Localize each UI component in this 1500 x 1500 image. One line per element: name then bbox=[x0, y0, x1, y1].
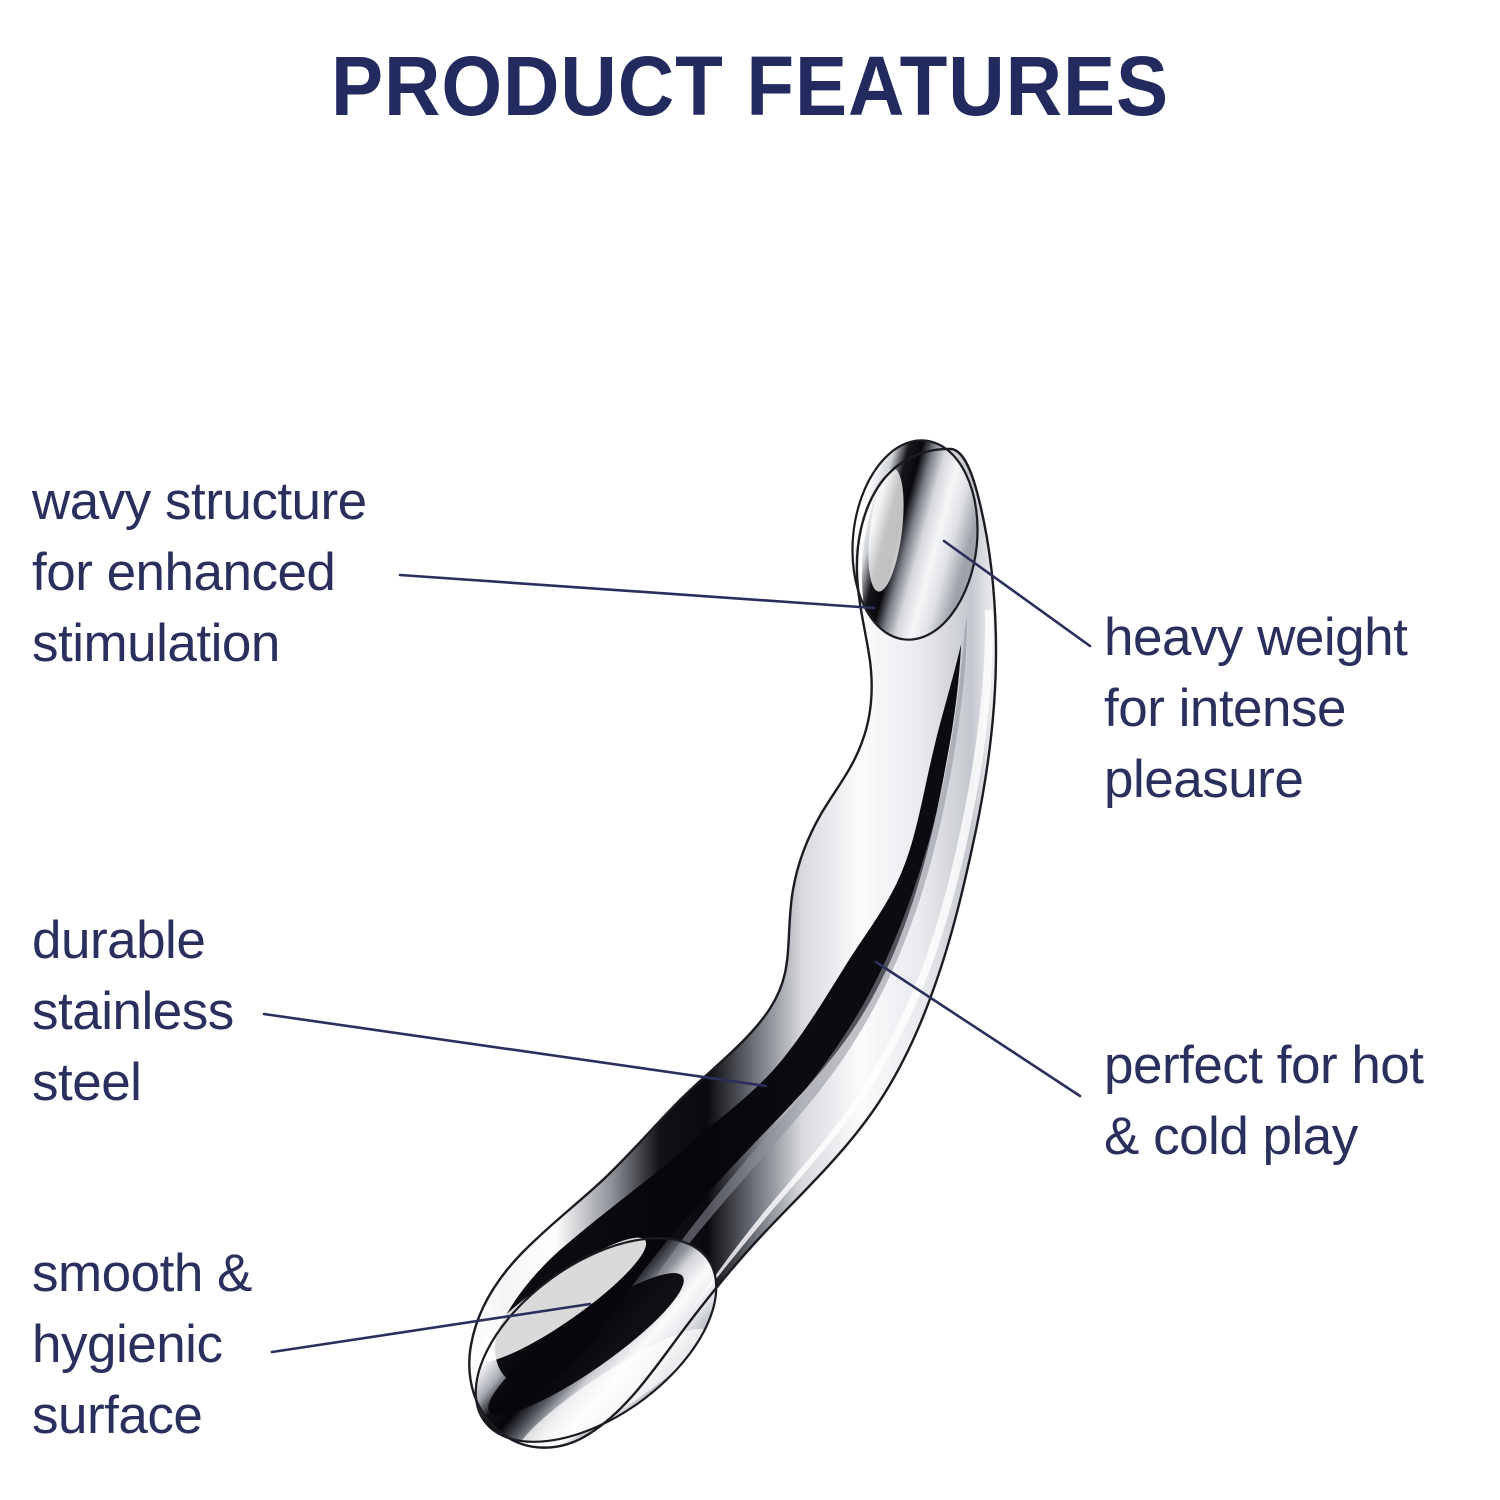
callout-label-perfect-hot-cold-play: perfect for hot & cold play bbox=[1104, 1030, 1424, 1172]
callout-label-smooth-hygienic-surface: smooth & hygienic surface bbox=[32, 1238, 252, 1451]
product-specular-right bbox=[692, 610, 993, 1310]
callout-label-durable-stainless-steel: durable stainless steel bbox=[32, 905, 234, 1118]
leader-lines bbox=[264, 541, 1090, 1352]
product-bottom-shadow bbox=[474, 1255, 697, 1433]
product-top-bulb bbox=[843, 434, 987, 646]
product-bottom-bulb-outline bbox=[440, 1197, 753, 1482]
product-midtone bbox=[592, 520, 967, 1372]
leader-line-heavy-weight bbox=[944, 541, 1090, 646]
product-top-bulb-outline bbox=[843, 434, 987, 646]
product-outline bbox=[469, 449, 996, 1448]
leader-line-smooth-hygienic-surface bbox=[272, 1304, 590, 1352]
leader-line-durable-stainless-steel bbox=[264, 1014, 766, 1086]
leader-line-perfect-hot-cold-play bbox=[876, 962, 1080, 1096]
callout-label-wavy-structure: wavy structure for enhanced stimulation bbox=[32, 466, 367, 679]
infographic-canvas: PRODUCT FEATURES bbox=[0, 0, 1500, 1500]
product-specular-left bbox=[481, 480, 884, 1338]
callout-label-heavy-weight: heavy weight for intense pleasure bbox=[1104, 602, 1407, 815]
product-top-highlight bbox=[858, 467, 910, 662]
product-shaft bbox=[470, 449, 997, 1447]
leader-line-wavy-structure bbox=[400, 575, 874, 608]
product-bottom-bulb bbox=[440, 1197, 753, 1482]
product-body bbox=[440, 434, 997, 1483]
product-bottom-highlight bbox=[462, 1222, 717, 1469]
page-title: PRODUCT FEATURES bbox=[53, 44, 1448, 128]
product-reflection-band bbox=[495, 453, 962, 1387]
